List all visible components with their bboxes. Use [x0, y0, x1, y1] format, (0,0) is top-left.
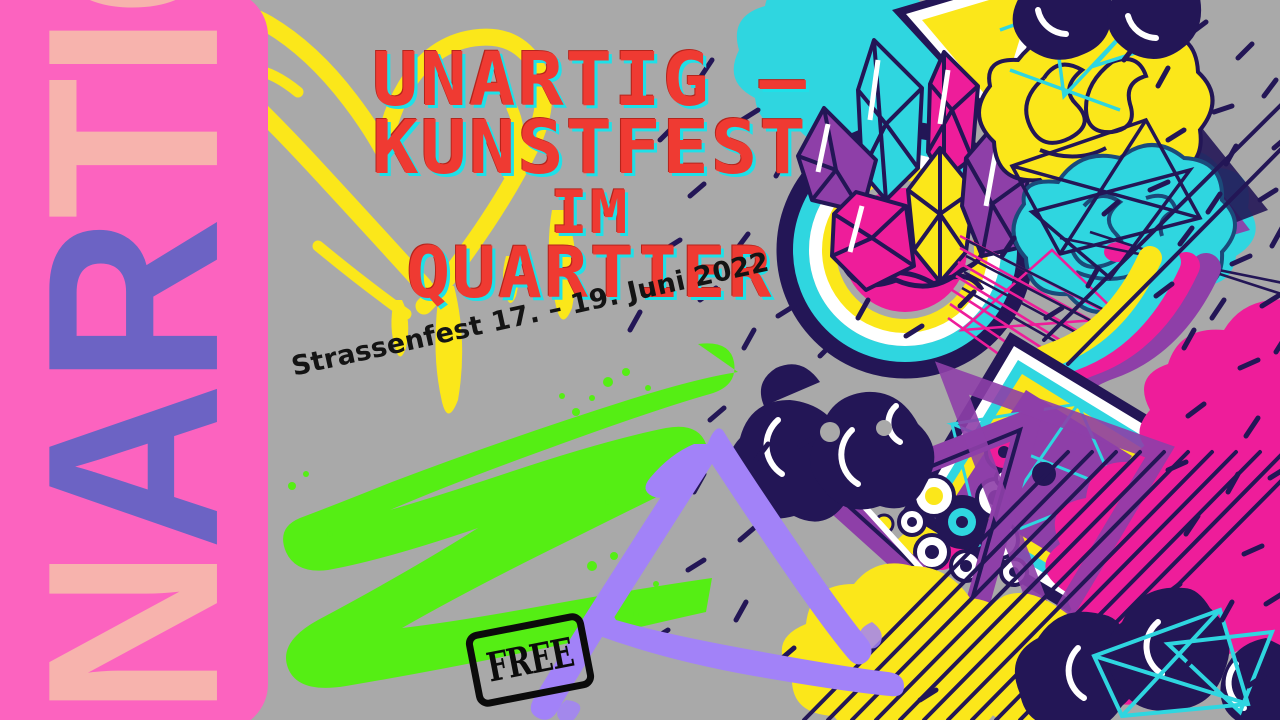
poster-canvas: UNARTIG UNARTIG – KUNSTFEST IM QUARTIER … [0, 0, 1280, 720]
pink-side-panel [0, 0, 268, 720]
free-stamp-label: FREE [483, 628, 577, 691]
